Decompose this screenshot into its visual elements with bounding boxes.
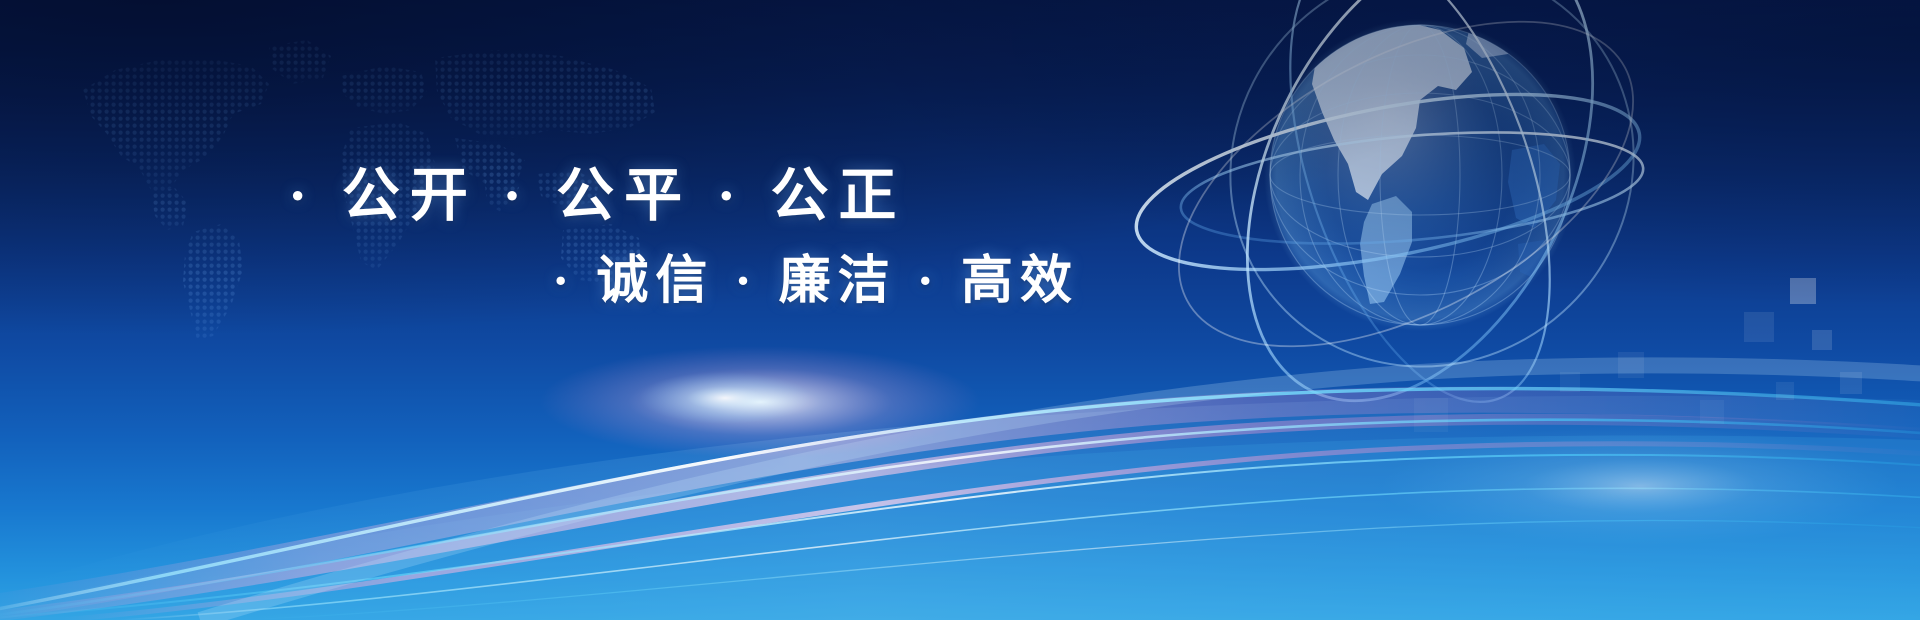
banner-root: · 公开 · 公平 · 公正 · 诚信 · 廉洁 · 高效 (0, 0, 1920, 620)
slogan-block: · 公开 · 公平 · 公正 · 诚信 · 廉洁 · 高效 (0, 0, 1180, 340)
square-accent (1700, 400, 1724, 424)
square-accent (1618, 352, 1644, 378)
globe-grid (1270, 25, 1570, 325)
globe-sphere (1264, 19, 1576, 331)
square-accent (1790, 278, 1816, 304)
dotted-world-map-watermark (55, 18, 675, 348)
square-accent (1744, 312, 1774, 342)
square-accent (1812, 330, 1832, 350)
globe-continents (1312, 20, 1560, 304)
wireframe-globe-with-orbit-rings (1120, 0, 1680, 440)
square-accent (1840, 372, 1862, 394)
square-accent (1414, 398, 1448, 432)
globe-orbit-rings (1123, 0, 1717, 457)
slogan-line-1: · 公开 · 公平 · 公正 (288, 148, 907, 232)
translucent-square-accents (0, 0, 1920, 620)
square-accent (1776, 382, 1794, 400)
slogan-line-2: · 诚信 · 廉洁 · 高效 (552, 238, 1079, 313)
square-accent (1560, 372, 1580, 392)
glowing-light-streaks (0, 290, 1920, 620)
vignette-overlay (0, 0, 1920, 620)
